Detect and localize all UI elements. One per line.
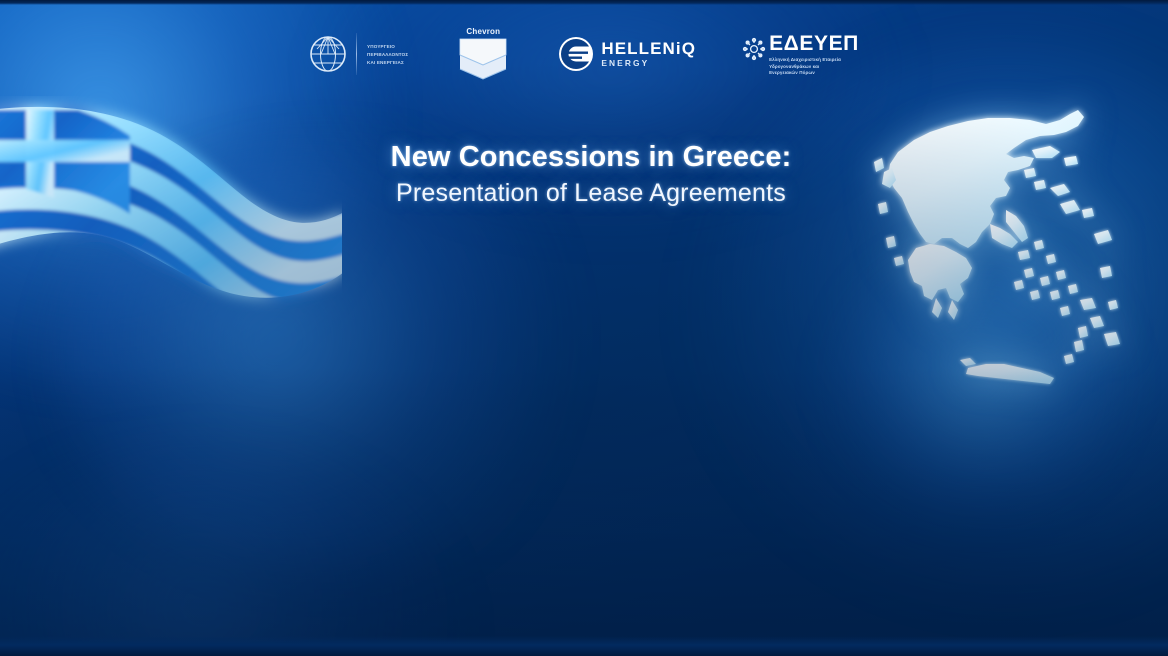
sponsor-logo-bar: ΥΠΟΥΡΓΕΙΟ ΠΕΡΙΒΑΛΛΟΝΤΟΣ ΚΑΙ ΕΝΕΡΓΕΙΑΣ Ch… — [0, 24, 1168, 84]
logo-helleniq-energy: HELLENiQ ENERGY — [558, 36, 696, 72]
logo-edeyep: ΕΔΕΥΕΠ Ελληνική Διαχειριστική Εταιρεία Υ… — [742, 33, 859, 75]
helleniq-name: HELLENiQ — [601, 40, 696, 57]
logo-ministry-line-2: ΠΕΡΙΒΑΛΛΟΝΤΟΣ — [367, 52, 408, 57]
chevron-hallmark-icon: Chevron — [454, 27, 512, 81]
helleniq-sub: ENERGY — [601, 59, 696, 67]
page-subtitle: Presentation of Lease Agreements — [14, 177, 1168, 210]
edeyep-subtext: Ελληνική Διαχειριστική Εταιρεία Υδρογονα… — [769, 57, 859, 75]
edeyep-sub-line-2: Υδρογονανθράκων και — [769, 64, 859, 69]
edeyep-sub-line-3: Ενεργειακών Πόρων — [769, 70, 859, 75]
logo-divider — [356, 33, 357, 75]
logo-chevron: Chevron — [454, 27, 512, 81]
logo-ministry-text: ΥΠΟΥΡΓΕΙΟ ΠΕΡΙΒΑΛΛΟΝΤΟΣ ΚΑΙ ΕΝΕΡΓΕΙΑΣ — [366, 44, 408, 65]
page-title: New Concessions in Greece: — [14, 139, 1168, 175]
title-block: New Concessions in Greece: Presentation … — [0, 139, 1168, 210]
top-letterbox-band — [0, 0, 1168, 5]
edeyep-name: ΕΔΕΥΕΠ — [769, 33, 859, 55]
edeyep-star-icon — [742, 37, 766, 61]
helleniq-swirl-icon — [558, 36, 594, 72]
bottom-fade-overlay — [0, 0, 1168, 656]
helleniq-text: HELLENiQ ENERGY — [601, 40, 696, 67]
edeyep-sub-line-1: Ελληνική Διαχειριστική Εταιρεία — [769, 57, 859, 62]
bottom-letterbox-band — [0, 636, 1168, 656]
logo-ministry-line-3: ΚΑΙ ΕΝΕΡΓΕΙΑΣ — [367, 60, 408, 65]
edeyep-text: ΕΔΕΥΕΠ Ελληνική Διαχειριστική Εταιρεία Υ… — [769, 33, 859, 75]
video-title-card: ΥΠΟΥΡΓΕΙΟ ΠΕΡΙΒΑΛΛΟΝΤΟΣ ΚΑΙ ΕΝΕΡΓΕΙΑΣ Ch… — [0, 0, 1168, 656]
logo-ministry-line-1: ΥΠΟΥΡΓΕΙΟ — [367, 44, 408, 49]
logo-ministry: ΥΠΟΥΡΓΕΙΟ ΠΕΡΙΒΑΛΛΟΝΤΟΣ ΚΑΙ ΕΝΕΡΓΕΙΑΣ — [309, 33, 408, 75]
globe-grid-icon — [309, 35, 347, 73]
